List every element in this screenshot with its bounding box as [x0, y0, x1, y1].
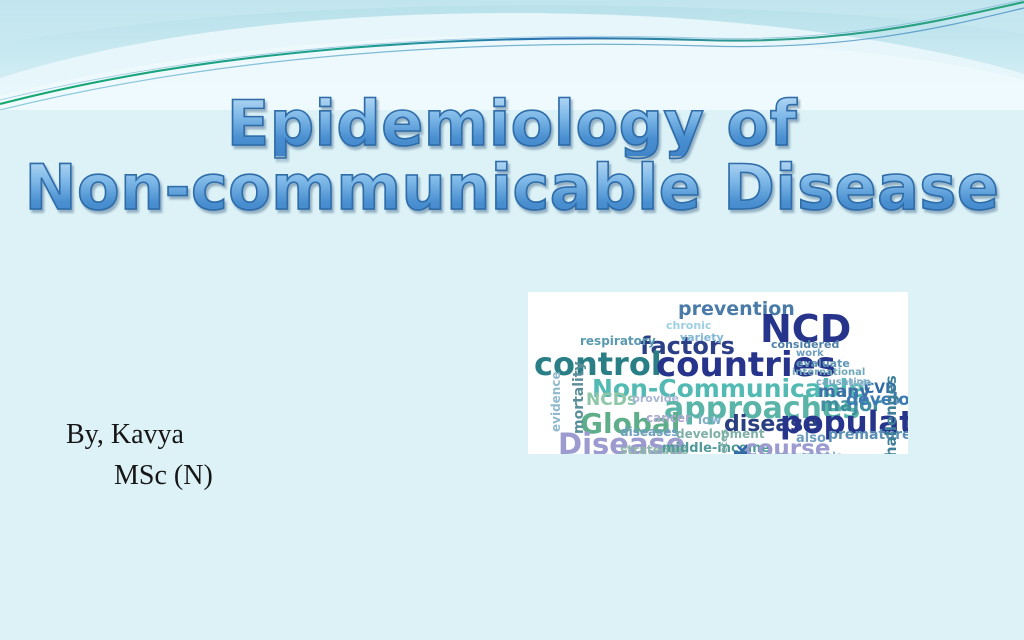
wordcloud-word: risk [734, 444, 751, 454]
wordcloud-word: diabetes [720, 429, 730, 454]
wordcloud-word: mortality [572, 361, 586, 434]
presentation-slide: Epidemiology of Non-communicable Disease… [0, 0, 1024, 640]
title-line-2: Non-communicable Disease [0, 156, 1024, 220]
author-name: By, Kavya [66, 415, 213, 456]
author-credit: By, Kavya MSc (N) [66, 415, 213, 496]
wordcloud-word: respiratory [580, 335, 656, 347]
wordcloud-word: cancer [646, 412, 691, 424]
wordcloud-words: preventionNCDfactorschronicvarietycontro… [528, 292, 908, 454]
wordcloud-word: challenges [884, 375, 899, 454]
author-qualification: MSc (N) [66, 456, 213, 497]
wordcloud-word: evidence [550, 371, 562, 432]
wordcloud-word: wide [848, 380, 872, 389]
wordcloud-word: variety [680, 332, 724, 343]
decorative-wave-header [0, 0, 1024, 110]
wordcloud-image: preventionNCDfactorschronicvarietycontro… [528, 292, 908, 454]
wordcloud-word: chronic [666, 320, 711, 331]
wordcloud-word: low [698, 414, 721, 426]
slide-title: Epidemiology of Non-communicable Disease [0, 92, 1024, 220]
